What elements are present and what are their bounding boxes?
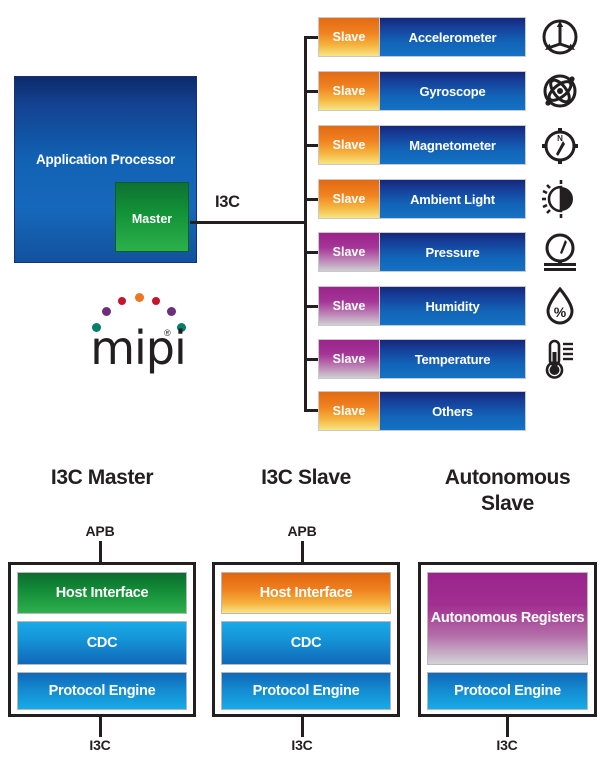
host-interface-block-master[interactable]: Host Interface (17, 572, 187, 614)
host-interface-block-slave[interactable]: Host Interface (221, 572, 391, 614)
bus-stub (304, 90, 318, 93)
i3c-stub (99, 717, 102, 737)
application-processor-label: Application Processor (14, 152, 197, 167)
compass-icon: N (534, 125, 586, 165)
sensor-name: Others (380, 391, 526, 431)
i3c-stub (506, 717, 509, 737)
sensor-name: Temperature (380, 339, 526, 379)
i3c-label-slave: I3C (272, 737, 332, 753)
protocol-engine-block-slave[interactable]: Protocol Engine (221, 672, 391, 710)
slave-row-temperature[interactable]: Slave Temperature (318, 339, 526, 379)
i3c-stub (301, 717, 304, 737)
logo-dot (167, 307, 176, 316)
apb-label-master: APB (70, 523, 130, 539)
mipi-logo: mipi ® (88, 292, 188, 382)
svg-text:N: N (557, 134, 563, 143)
logo-dot (152, 297, 160, 305)
sensor-name: Ambient Light (380, 179, 526, 219)
slave-tag: Slave (318, 17, 380, 57)
mipi-wordmark: mipi (88, 322, 188, 374)
column-title-i3c-master: I3C Master (8, 465, 196, 491)
humidity-droplet-icon: % (534, 286, 586, 326)
bus-stub (304, 358, 318, 361)
bus-stub (304, 144, 318, 147)
registered-mark: ® (164, 328, 171, 338)
bus-stub (304, 305, 318, 308)
slave-row-ambient-light[interactable]: Slave Ambient Light (318, 179, 526, 219)
logo-dot (135, 293, 144, 302)
autonomous-registers-block[interactable]: Autonomous Registers (427, 572, 588, 665)
i3c-label-autonomous: I3C (477, 737, 537, 753)
slave-tag: Slave (318, 232, 380, 272)
cdc-block-master[interactable]: CDC (17, 621, 187, 665)
sensor-name: Gyroscope (380, 71, 526, 111)
cdc-block-slave[interactable]: CDC (221, 621, 391, 665)
slave-row-pressure[interactable]: Slave Pressure (318, 232, 526, 272)
slave-row-gyroscope[interactable]: Slave Gyroscope (318, 71, 526, 111)
slave-tag: Slave (318, 71, 380, 111)
protocol-engine-block-autonomous[interactable]: Protocol Engine (427, 672, 588, 710)
bus-stub (304, 198, 318, 201)
slave-tag: Slave (318, 179, 380, 219)
sensor-name: Magnetometer (380, 125, 526, 165)
slave-row-humidity[interactable]: Slave Humidity (318, 286, 526, 326)
sensor-name: Pressure (380, 232, 526, 272)
slave-tag: Slave (318, 286, 380, 326)
protocol-engine-block-master[interactable]: Protocol Engine (17, 672, 187, 710)
apb-stub (99, 541, 102, 563)
apb-label-slave: APB (272, 523, 332, 539)
gyroscope-icon (534, 71, 586, 111)
pressure-gauge-icon (534, 232, 586, 272)
column-title-autonomous-slave: Autonomous Slave (418, 465, 597, 517)
logo-dot (102, 307, 111, 316)
thermometer-icon (534, 339, 586, 379)
slave-tag: Slave (318, 391, 380, 431)
slave-tag: Slave (318, 125, 380, 165)
i3c-bus-label: I3C (215, 193, 295, 212)
logo-dot (118, 297, 126, 305)
slave-row-accelerometer[interactable]: Slave Accelerometer (318, 17, 526, 57)
apb-stub (301, 541, 304, 563)
i3c-label-master: I3C (70, 737, 130, 753)
column-title-i3c-slave: I3C Slave (212, 465, 400, 491)
bus-stub (304, 409, 318, 412)
slave-tag: Slave (318, 339, 380, 379)
bus-stub (304, 251, 318, 254)
slave-row-others[interactable]: Slave Others (318, 391, 526, 431)
slave-row-magnetometer[interactable]: Slave Magnetometer (318, 125, 526, 165)
sun-icon (534, 179, 586, 219)
master-label: Master (115, 212, 189, 226)
sensor-name: Humidity (380, 286, 526, 326)
accelerometer-icon (534, 17, 586, 57)
bus-stub (304, 36, 318, 39)
sensor-name: Accelerometer (380, 17, 526, 57)
svg-text:%: % (554, 304, 567, 320)
diagram-canvas: Application Processor Master I3C Slave A… (0, 0, 600, 761)
bus-horizontal-line (190, 221, 307, 224)
